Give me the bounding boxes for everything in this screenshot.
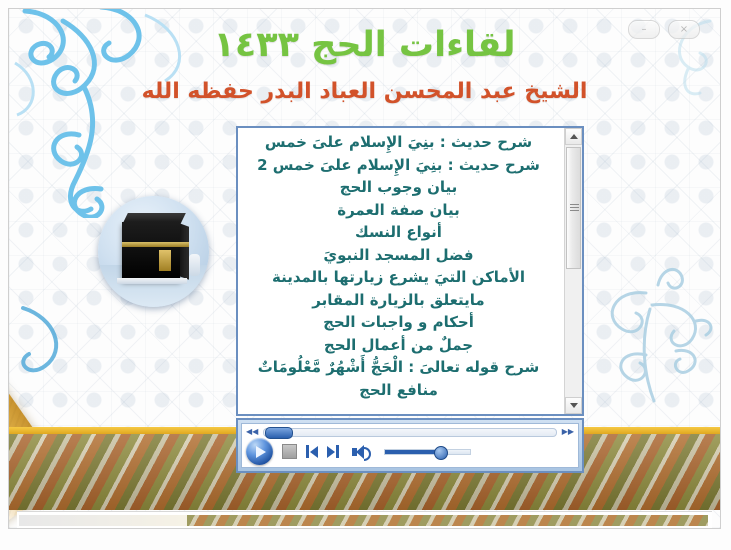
transport-controls xyxy=(246,438,574,467)
list-item[interactable]: شرح قوله تعالىَ : الْحَجُّ أَشْهُرٌ مَّع… xyxy=(242,356,555,379)
scrollbar-grip xyxy=(570,204,579,211)
list-item[interactable]: بيان وجوب الحج xyxy=(242,176,555,199)
list-scrollbar[interactable] xyxy=(564,128,582,414)
page-subtitle: الشيخ عبد المحسن العباد البدر حفظه الله xyxy=(9,79,720,104)
play-icon xyxy=(256,446,266,458)
media-player: ◀◀ ▶▶ xyxy=(236,418,584,473)
lecture-list-panel: شرح حديث : بنِيَ الإِسلام علىَ خمسشرح حد… xyxy=(236,126,584,416)
application-window: – × لقاءات الحج ١٤٣٣ الشيخ عبد المحسن ال… xyxy=(0,0,731,550)
volume-speaker-icon[interactable] xyxy=(352,445,369,459)
rewind-icon[interactable]: ◀◀ xyxy=(246,428,258,436)
close-icon: × xyxy=(680,25,688,35)
list-item[interactable]: مايتعلق بالزيارة المقابر xyxy=(242,289,555,312)
seek-thumb[interactable] xyxy=(265,427,293,439)
volume-slider[interactable] xyxy=(384,449,471,455)
previous-track-button[interactable] xyxy=(306,445,318,458)
play-button[interactable] xyxy=(246,438,273,465)
volume-thumb[interactable] xyxy=(434,446,448,460)
kaaba-photo xyxy=(98,196,209,307)
bottom-edge-strip xyxy=(17,511,712,528)
list-item[interactable]: فضل المسجد النبويَ xyxy=(242,244,555,267)
list-item[interactable]: جملٌ من أعمال الحج xyxy=(242,334,555,357)
list-item[interactable]: أحكام و واجبات الحج xyxy=(242,311,555,334)
list-item[interactable]: أنواع النسك xyxy=(242,221,555,244)
page-title: لقاءات الحج ١٤٣٣ xyxy=(9,25,720,65)
seek-slider[interactable] xyxy=(263,428,556,437)
list-item[interactable]: بيان صفة العمرة xyxy=(242,199,555,222)
minimize-button[interactable]: – xyxy=(628,20,660,39)
next-track-button[interactable] xyxy=(327,445,339,458)
seek-row: ◀◀ ▶▶ xyxy=(246,426,574,438)
lecture-list[interactable]: شرح حديث : بنِيَ الإِسلام علىَ خمسشرح حد… xyxy=(238,128,564,414)
list-item[interactable]: شرح حديث : بنِيَ الإِسلام علىَ خمس xyxy=(242,131,555,154)
scroll-down-arrow-icon[interactable] xyxy=(565,397,582,414)
previous-track-icon xyxy=(310,446,318,458)
list-item[interactable]: منافع الحج xyxy=(242,379,555,402)
minimize-icon: – xyxy=(642,25,647,35)
next-track-icon xyxy=(327,446,335,458)
window-controls: – × xyxy=(628,20,700,39)
stop-button[interactable] xyxy=(282,444,297,459)
scroll-up-arrow-icon[interactable] xyxy=(565,128,582,145)
list-item[interactable]: الأماكن التيَ يشرع زيارتها بالمدينة xyxy=(242,266,555,289)
fast-forward-icon[interactable]: ▶▶ xyxy=(562,428,574,436)
scrollbar-thumb[interactable] xyxy=(566,147,581,269)
close-button[interactable]: × xyxy=(668,20,700,39)
window-frame: – × لقاءات الحج ١٤٣٣ الشيخ عبد المحسن ال… xyxy=(8,8,721,529)
list-item[interactable]: شرح حديث : بنِيَ الإِسلام علىَ خمس 2 xyxy=(242,154,555,177)
